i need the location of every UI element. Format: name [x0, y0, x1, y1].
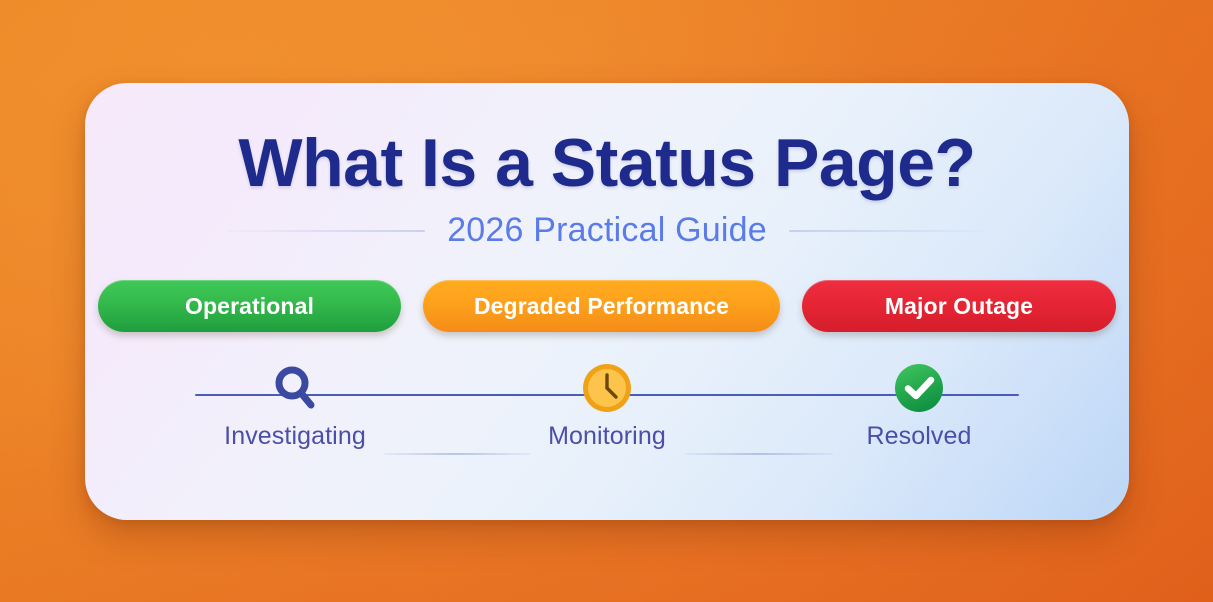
- magnifying-glass-icon: [269, 362, 321, 414]
- timeline-step-label-investigating: Investigating: [224, 422, 366, 451]
- status-badge-group: Operational Degraded Performance Major O…: [98, 280, 1116, 332]
- poster-canvas: What Is a Status Page? 2026 Practical Gu…: [0, 0, 1213, 602]
- page-title: What Is a Status Page?: [238, 129, 975, 197]
- status-badge-major-outage[interactable]: Major Outage: [802, 280, 1116, 332]
- timeline-step-monitoring[interactable]: Monitoring: [507, 362, 707, 451]
- check-circle-icon: [893, 362, 945, 414]
- timeline-step-label-monitoring: Monitoring: [548, 422, 666, 451]
- status-badge-degraded-performance[interactable]: Degraded Performance: [423, 280, 780, 332]
- timeline-step-resolved[interactable]: Resolved: [819, 362, 1019, 451]
- status-page-card: What Is a Status Page? 2026 Practical Gu…: [85, 83, 1129, 520]
- timeline-step-investigating[interactable]: Investigating: [195, 362, 395, 451]
- clock-icon: [581, 362, 633, 414]
- subtitle-rule-left: [227, 230, 425, 232]
- subtitle-rule-right: [789, 230, 987, 232]
- subtitle-row: 2026 Practical Guide: [227, 211, 987, 250]
- status-badge-operational[interactable]: Operational: [98, 280, 401, 332]
- page-subtitle: 2026 Practical Guide: [447, 211, 767, 250]
- timeline-step-label-resolved: Resolved: [866, 422, 971, 451]
- incident-timeline: Investigating Monitoring: [195, 362, 1019, 472]
